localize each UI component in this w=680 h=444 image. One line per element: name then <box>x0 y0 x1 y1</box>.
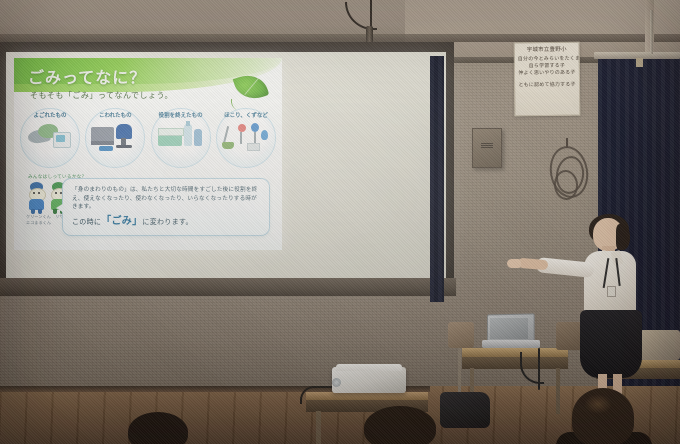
category-circle-dirty: よごれたもの <box>20 108 80 168</box>
student-foreground-left <box>128 412 188 444</box>
category-label: ほこり、くずなど <box>219 113 273 119</box>
projector-top <box>336 364 402 371</box>
bubble-paragraph-1: 「身のまわりのもの」は、私たちと大切な時間をすごした後に役割を終え、使えなくなっ… <box>72 186 260 212</box>
speaker-grill <box>481 143 493 148</box>
laptop-keyboard-base <box>482 340 540 348</box>
name-badge <box>607 286 616 297</box>
category-circle-dust: ほこり、くずなど <box>216 108 276 168</box>
category-label: よごれたもの <box>23 113 77 119</box>
curtain-clip-icon <box>636 58 643 67</box>
classroom-photo: ごみってなに？ そもそも「ごみ」ってなんでしょう。 よごれたもの こわれたもの … <box>0 0 680 444</box>
projected-slide: ごみってなに？ そもそも「ごみ」ってなんでしょう。 よごれたもの こわれたもの … <box>14 58 282 250</box>
slide-speech-bubble: 「身のまわりのもの」は、私たちと大切な時間をすごした後に役割を終え、使えなくなっ… <box>62 178 270 236</box>
presenter <box>560 218 670 418</box>
slide-subtitle: そもそも「ごみ」ってなんでしょう。 <box>30 90 173 101</box>
dirty-clothes-icon <box>25 120 75 154</box>
presenter-black-skirt <box>580 310 642 378</box>
projector-lens-icon <box>332 378 341 387</box>
screen-bottom-rail <box>0 278 456 296</box>
laptop-screen <box>490 318 528 339</box>
category-label: 役割を終えたもの <box>154 113 208 119</box>
category-circle-finished-role: 役割を終えたもの <box>151 108 211 168</box>
bubble-prefix: この時に <box>72 219 101 226</box>
bubble-paragraph-2: この時に「ごみ」に変わります。 <box>72 215 260 228</box>
student-foreground-center <box>364 406 436 444</box>
black-bag <box>440 392 490 428</box>
category-circle-broken: こわれたもの <box>85 108 145 168</box>
slide-title: ごみってなに？ <box>28 64 146 88</box>
curtain-strip-left <box>430 56 444 302</box>
laptop-cable <box>538 348 540 390</box>
wall-speaker-icon <box>472 128 502 168</box>
wall-sign: 宇城市立豊野小 自分の今とみらいをたくましく生きる子 自ら学習する子 仲よく思い… <box>514 42 581 117</box>
broken-furniture-icon <box>90 120 140 154</box>
dust-scraps-icon <box>221 120 271 154</box>
wall-sign-line: 宇城市立豊野小 <box>518 47 576 56</box>
curtain-rail-post <box>650 10 653 54</box>
category-label: こわれたもの <box>88 113 142 119</box>
laptop-desk-front <box>462 357 568 369</box>
wall-sign-line: ともに認めて協力する子 <box>518 81 576 89</box>
wall-sign-line: 仲よく思いやりのある子 <box>518 70 576 78</box>
presenter-hair-side <box>616 224 630 250</box>
bubble-suffix: に変わります。 <box>142 219 192 226</box>
presenter-white-blouse <box>584 251 636 317</box>
student-hair-highlight <box>584 394 612 414</box>
used-containers-icon <box>156 120 206 154</box>
pointing-hand-icon <box>507 259 521 268</box>
mascot-blue-icon <box>26 182 47 214</box>
classroom-chair <box>448 322 474 348</box>
bubble-emphasis: 「ごみ」 <box>101 216 142 227</box>
table-leg <box>316 411 321 444</box>
slide-category-row: よごれたもの こわれたもの 役割を終えたもの ほこ <box>20 108 276 168</box>
